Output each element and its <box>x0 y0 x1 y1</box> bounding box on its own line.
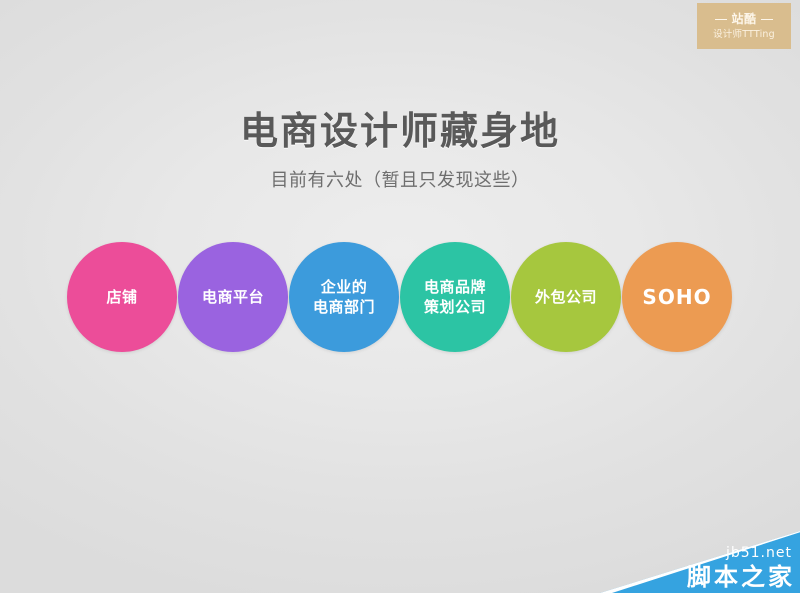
watermark-site-label: jb51.net <box>726 545 792 561</box>
category-label-2-line-1: 电商平台 <box>202 287 264 307</box>
category-label-6: SOHO <box>636 287 717 307</box>
category-label-5-line-1: 外包公司 <box>535 287 597 307</box>
badge-left-rule-icon <box>715 19 727 20</box>
category-circle-3[interactable]: 企业的 电商部门 <box>289 242 399 352</box>
category-label-3: 企业的 电商部门 <box>307 277 381 317</box>
badge-author-label: 设计师TTTing <box>713 28 775 42</box>
category-label-4-line-1: 电商品牌 <box>424 277 486 297</box>
category-circle-2[interactable]: 电商平台 <box>178 242 288 352</box>
page-subtitle: 目前有六处（暂且只发现这些） <box>0 168 800 194</box>
category-circle-5[interactable]: 外包公司 <box>511 242 621 352</box>
category-label-4-line-2: 策划公司 <box>424 297 486 317</box>
category-circle-1[interactable]: 店铺 <box>67 242 177 352</box>
watermark: jb51.net 脚本之家 <box>600 531 800 593</box>
badge-brand-label: 站酷 <box>731 12 756 27</box>
category-label-2: 电商平台 <box>196 287 270 307</box>
category-label-5: 外包公司 <box>529 287 603 307</box>
badge-brand-row: 站酷 <box>715 12 772 27</box>
category-label-3-line-2: 电商部门 <box>313 297 375 317</box>
slide-canvas: 站酷 设计师TTTing 电商设计师藏身地 目前有六处（暂且只发现这些） 店铺 … <box>0 0 800 593</box>
category-label-6-line-1: SOHO <box>642 287 711 307</box>
watermark-name-label: 脚本之家 <box>687 562 795 592</box>
category-label-4: 电商品牌 策划公司 <box>418 277 492 317</box>
badge-right-rule-icon <box>761 19 773 20</box>
source-badge: 站酷 设计师TTTing <box>697 3 791 49</box>
category-circle-4[interactable]: 电商品牌 策划公司 <box>400 242 510 352</box>
category-circle-6[interactable]: SOHO <box>622 242 732 352</box>
category-circle-row: 店铺 电商平台 企业的 电商部门 电商品牌 策划公司 外包公司 <box>67 242 733 354</box>
category-label-1-line-1: 店铺 <box>106 287 137 307</box>
page-title: 电商设计师藏身地 <box>0 108 800 154</box>
category-label-3-line-1: 企业的 <box>313 277 375 297</box>
category-label-1: 店铺 <box>100 287 143 307</box>
